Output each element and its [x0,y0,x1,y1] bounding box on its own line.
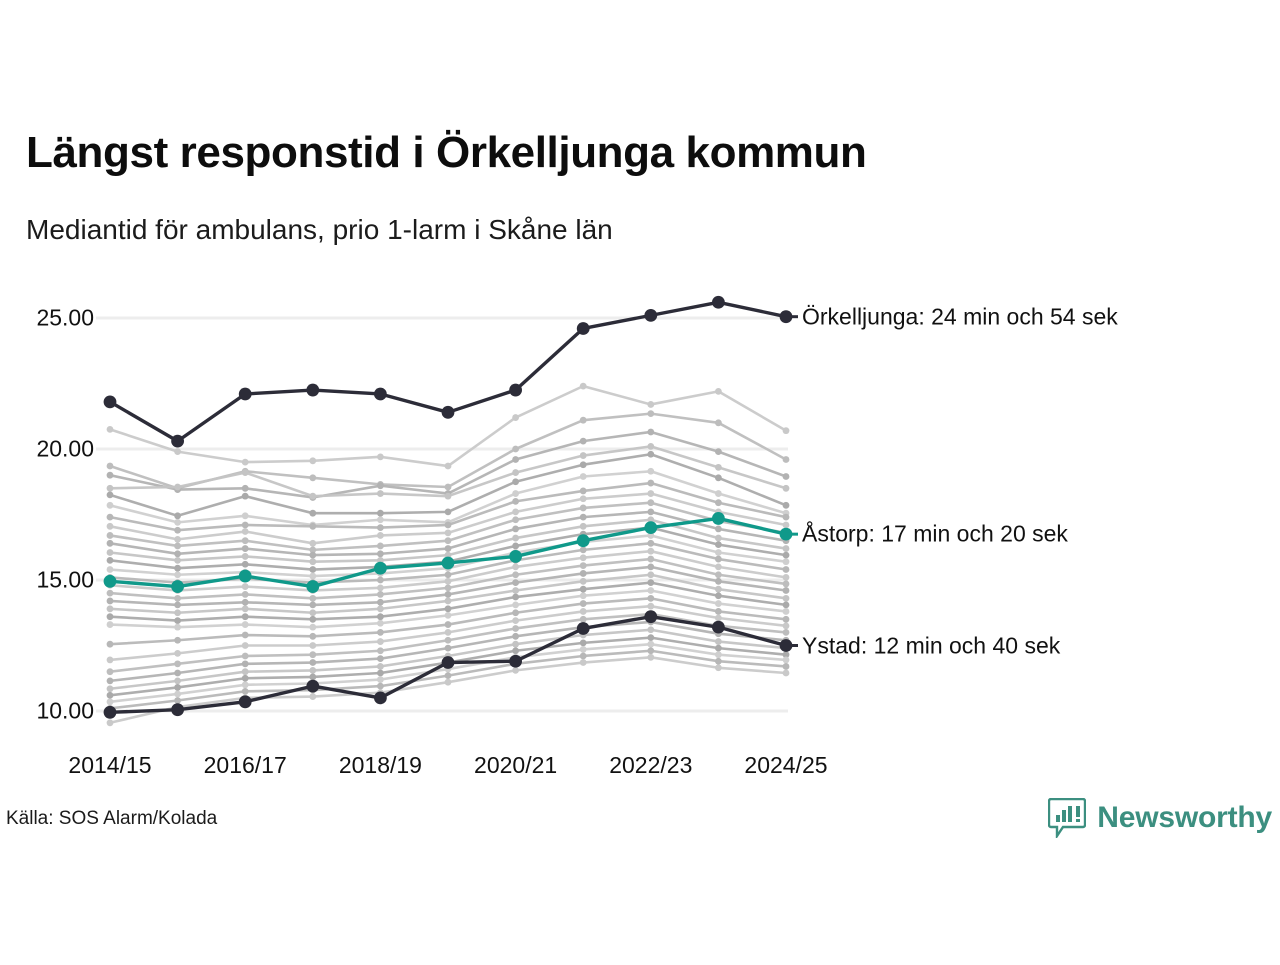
background-series-point [107,532,114,539]
background-series-point [647,603,654,610]
series-point-örkelljunga [442,406,455,419]
background-series-point [783,587,790,594]
background-series-point [512,516,519,523]
background-series-point [377,620,384,627]
background-series-point [174,557,181,564]
y-axis-tick-15-00: 15.00 [8,567,94,594]
background-series-point [445,463,452,470]
background-series-point [107,426,114,433]
background-series-point [445,484,452,491]
background-series-point [647,571,654,578]
background-series-point [377,591,384,598]
background-series-point [512,543,519,550]
background-series-point [309,510,316,517]
background-series-point [783,485,790,492]
background-series-point [715,549,722,556]
series-point-åstorp [577,534,590,547]
background-series-point [309,667,316,674]
background-series-point [107,502,114,509]
background-series-point [242,675,249,682]
series-point-ystad [171,703,184,716]
background-series-point [107,657,114,664]
background-series-point [242,613,249,620]
x-axis-tick-2022-23: 2022/23 [609,752,692,779]
background-series-point [715,535,722,542]
background-series-point [715,474,722,481]
background-series-point [512,478,519,485]
background-series-point [174,684,181,691]
series-point-örkelljunga [306,384,319,397]
background-series-point [783,427,790,434]
background-series-point [107,641,114,648]
background-series-point [309,642,316,649]
background-series-point [107,698,114,705]
background-series-point [647,579,654,586]
background-series-point [377,577,384,584]
background-series-point [107,472,114,479]
background-series-point [783,545,790,552]
background-series-point [377,613,384,620]
background-series-point [715,499,722,506]
background-series-point [783,629,790,636]
background-series-point [783,616,790,623]
background-series-point [107,557,114,564]
background-series-point [715,592,722,599]
background-series-point [107,692,114,699]
background-series-point [647,429,654,436]
background-series-point [783,581,790,588]
y-axis-tick-10-00: 10.00 [8,698,94,725]
background-series-point [512,625,519,632]
background-series-point [445,522,452,529]
background-series-point [715,638,722,645]
background-series-point [445,672,452,679]
background-series-point [309,624,316,631]
background-series-point [647,634,654,641]
series-point-ystad [644,610,657,623]
background-series-point [445,637,452,644]
background-series-point [309,609,316,616]
background-series-point [107,514,114,521]
background-series-point [377,490,384,497]
series-point-ystad [306,680,319,693]
background-series-point [174,512,181,519]
x-axis-tick-2020-21: 2020/21 [474,752,557,779]
background-series-point [580,438,587,445]
background-series-point [445,605,452,612]
background-series-point [647,490,654,497]
background-series-point [783,558,790,565]
background-series-point [174,650,181,657]
background-series-point [715,464,722,471]
background-series-point [647,540,654,547]
background-series-point [580,383,587,390]
background-series-point [174,670,181,677]
series-point-örkelljunga [374,388,387,401]
series-point-ystad [374,692,387,705]
series-point-ystad [712,621,725,634]
background-series-point [512,633,519,640]
background-series-point [174,617,181,624]
background-series-line [110,386,786,466]
background-series-point [107,491,114,498]
background-series-point [783,473,790,480]
background-series-point [715,600,722,607]
background-series-point [377,532,384,539]
background-series-point [783,552,790,559]
background-series-point [715,564,722,571]
series-label-örkelljunga: Örkelljunga: 24 min och 54 sek [802,303,1118,330]
bar-chart-bubble-icon [1048,798,1086,838]
background-series-point [107,523,114,530]
background-series-point [715,419,722,426]
background-series-point [309,659,316,666]
background-series-point [445,645,452,652]
x-axis-tick-2024-25: 2024/25 [744,752,827,779]
background-series-point [715,586,722,593]
background-series-point [512,535,519,542]
background-series-line [110,414,786,489]
background-series-point [242,485,249,492]
background-series-point [783,622,790,629]
background-series-point [715,388,722,395]
background-series-point [783,670,790,677]
background-series-point [309,633,316,640]
background-series-point [107,668,114,675]
background-series-point [580,608,587,615]
background-series-point [377,670,384,677]
background-series-point [242,681,249,688]
background-series-point [715,556,722,563]
background-series-point [309,493,316,500]
background-series-point [309,552,316,559]
background-series-point [242,493,249,500]
background-series-point [242,653,249,660]
background-series-point [377,683,384,690]
background-series-point [174,595,181,602]
background-series-point [174,527,181,534]
series-point-örkelljunga [509,384,522,397]
background-series-point [783,514,790,521]
background-series-point [445,629,452,636]
background-series-point [242,459,249,466]
background-series-point [512,456,519,463]
background-series-point [783,663,790,670]
background-series-point [512,564,519,571]
background-series-point [242,599,249,606]
background-series-point [242,512,249,519]
background-series-point [107,621,114,628]
background-series-point [242,591,249,598]
background-series-point [107,485,114,492]
background-series-point [309,674,316,681]
background-series-point [107,613,114,620]
background-series-point [174,448,181,455]
background-series-point [377,453,384,460]
background-series-point [174,565,181,572]
background-series-point [174,601,181,608]
background-series-point [377,584,384,591]
background-series-point [309,457,316,464]
background-series-point [242,537,249,544]
background-series-point [647,548,654,555]
background-series-point [647,410,654,417]
background-series-point [309,474,316,481]
background-series-point [783,657,790,664]
background-series-point [174,519,181,526]
background-series-point [242,668,249,675]
y-axis-tick-20-00: 20.00 [8,436,94,463]
background-series-point [107,566,114,573]
background-series-point [445,493,452,500]
background-series-point [377,655,384,662]
background-series-point [512,667,519,674]
source-note: Källa: SOS Alarm/Kolada [6,808,217,830]
background-series-point [783,502,790,509]
background-series-point [242,553,249,560]
background-series-point [377,647,384,654]
background-series-point [512,617,519,624]
background-series-point [647,595,654,602]
background-series-point [174,484,181,491]
background-series-point [783,601,790,608]
background-series-point [580,473,587,480]
background-series-point [377,638,384,645]
background-series-point [174,550,181,557]
chart-root: Längst responstid i Örkelljunga kommun M… [0,0,1280,960]
background-series-point [580,646,587,653]
background-series-point [377,524,384,531]
background-series-point [647,480,654,487]
background-series-point [715,615,722,622]
background-series-point [715,448,722,455]
background-series-point [715,664,722,671]
background-series-point [715,645,722,652]
series-point-åstorp [644,521,657,534]
background-series-point [580,523,587,530]
background-series-point [377,510,384,517]
background-series-point [647,641,654,648]
background-series-point [512,579,519,586]
background-series-point [580,639,587,646]
background-series-point [715,651,722,658]
background-series-point [309,573,316,580]
background-series-point [445,537,452,544]
background-series-point [107,685,114,692]
background-series-point [445,508,452,515]
background-series-point [647,647,654,654]
background-series-point [242,642,249,649]
background-series-point [107,590,114,597]
background-series-point [377,599,384,606]
background-series-point [242,522,249,529]
background-series-point [580,452,587,459]
background-series-point [309,693,316,700]
x-axis-tick-2014-15: 2014/15 [68,752,151,779]
background-series-point [309,651,316,658]
series-point-örkelljunga [577,322,590,335]
background-series-point [647,401,654,408]
background-series-point [647,556,654,563]
background-series-point [242,660,249,667]
background-series-point [580,514,587,521]
background-series-point [309,540,316,547]
newsworthy-logo: Newsworthy [1048,798,1272,838]
background-series-point [242,545,249,552]
background-series-point [445,591,452,598]
background-series-point [783,574,790,581]
y-axis-tick-25-00: 25.00 [8,305,94,332]
background-series-point [445,545,452,552]
background-series-point [715,541,722,548]
background-series-point [174,609,181,616]
series-point-ystad [442,656,455,669]
background-series-point [512,641,519,648]
background-series-point [107,677,114,684]
background-series-point [647,468,654,475]
series-point-ystad [577,622,590,635]
background-series-point [512,609,519,616]
background-series-point [715,578,722,585]
background-series-point [580,592,587,599]
background-series-point [174,571,181,578]
background-series-point [512,498,519,505]
background-series-point [242,469,249,476]
x-axis-tick-2018-19: 2018/19 [339,752,422,779]
background-series-point [715,571,722,578]
background-series-point [174,624,181,631]
background-series-point [445,621,452,628]
background-series-point [174,637,181,644]
series-point-åstorp [712,512,725,525]
background-series-point [580,659,587,666]
series-point-åstorp [509,550,522,563]
background-series-point [309,558,316,565]
background-series-point [580,653,587,660]
background-series-point [107,605,114,612]
background-series-point [377,629,384,636]
series-point-åstorp [239,570,252,583]
background-series-point [580,546,587,553]
series-point-åstorp [171,580,184,593]
series-point-ystad [239,695,252,708]
background-series-point [107,719,114,726]
background-series-point [512,587,519,594]
background-series-point [309,523,316,530]
series-point-örkelljunga [712,296,725,309]
background-series-point [107,549,114,556]
background-series-point [242,621,249,628]
background-series-point [647,499,654,506]
background-series-point [512,469,519,476]
background-series-point [242,605,249,612]
background-series-point [242,583,249,590]
series-point-ystad [104,706,117,719]
series-point-ystad [509,655,522,668]
series-point-örkelljunga [644,309,657,322]
series-point-örkelljunga [104,395,117,408]
background-series-point [174,543,181,550]
background-series-point [174,677,181,684]
background-series-point [309,601,316,608]
background-series-point [309,595,316,602]
background-series-point [445,679,452,686]
background-series-point [580,505,587,512]
background-series-point [580,554,587,561]
background-series-point [580,600,587,607]
background-series-point [445,598,452,605]
background-series-point [647,443,654,450]
background-series-point [715,490,722,497]
background-series-point [783,608,790,615]
background-series-point [512,526,519,533]
background-series-point [512,414,519,421]
background-series-point [512,490,519,497]
background-series-point [580,586,587,593]
series-label-ystad: Ystad: 12 min och 40 sek [802,632,1060,659]
background-series-point [647,626,654,633]
background-series-point [242,528,249,535]
background-series-point [647,451,654,458]
background-series-point [377,516,384,523]
background-series-point [107,598,114,605]
background-series-point [242,561,249,568]
background-series-point [445,584,452,591]
background-series-point [647,508,654,515]
background-series-point [783,522,790,529]
background-series-point [377,605,384,612]
background-series-point [309,566,316,573]
background-series-point [783,595,790,602]
background-series-point [445,612,452,619]
series-point-åstorp [374,562,387,575]
background-series-point [242,632,249,639]
background-series-point [580,616,587,623]
background-series-point [580,578,587,585]
background-series-point [174,536,181,543]
background-series-point [512,571,519,578]
series-point-örkelljunga [171,435,184,448]
background-series-point [783,566,790,573]
background-series-point [377,663,384,670]
background-series-point [580,488,587,495]
background-series-point [715,608,722,615]
background-series-point [242,688,249,695]
background-series-point [512,594,519,601]
background-series-point [174,660,181,667]
series-point-åstorp [104,575,117,588]
background-series-point [107,463,114,470]
logo-wordmark: Newsworthy [1097,801,1272,835]
background-series-point [174,691,181,698]
background-series-point [309,616,316,623]
x-axis-tick-2016-17: 2016/17 [204,752,287,779]
background-series-point [445,529,452,536]
background-series-point [580,562,587,569]
background-series-point [647,654,654,661]
background-series-point [512,508,519,515]
series-line-örkelljunga [110,302,786,441]
series-point-åstorp [306,580,319,593]
background-series-point [377,550,384,557]
series-point-åstorp [442,557,455,570]
background-series-point [580,570,587,577]
series-point-örkelljunga [239,388,252,401]
background-series-point [715,526,722,533]
background-series-point [580,495,587,502]
background-series-point [512,647,519,654]
background-series-point [377,543,384,550]
